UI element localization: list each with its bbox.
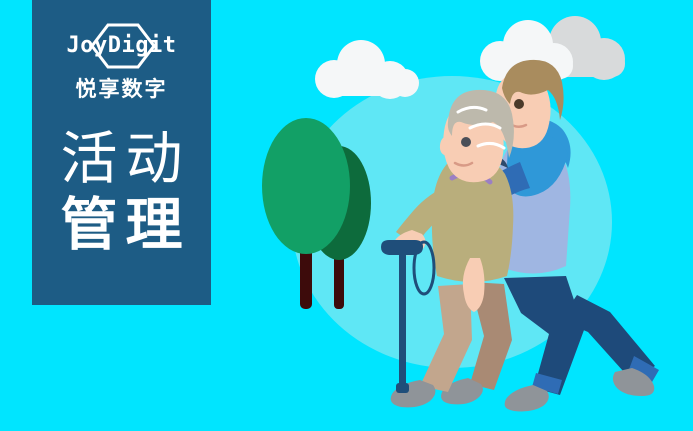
tree-front-foliage — [262, 118, 350, 254]
page-title-line-1: 活动 — [53, 126, 191, 192]
logo-wordmark: JoyDigit — [67, 35, 177, 57]
brand-logo: JoyDigit 悦享数字 — [46, 22, 198, 100]
page-title-line-2: 管理 — [53, 192, 191, 258]
activity-management-banner: JoyDigit 悦享数字 活动 管理 — [0, 0, 693, 431]
cane-tip — [396, 383, 409, 393]
man-eye — [514, 99, 524, 109]
title-panel: JoyDigit 悦享数字 活动 管理 — [32, 0, 211, 305]
cane-shaft — [399, 248, 406, 388]
page-title: 活动 管理 — [53, 126, 191, 258]
logo-mark: JoyDigit — [46, 22, 198, 70]
woman-eye — [461, 137, 471, 147]
company-name-cn: 悦享数字 — [76, 79, 168, 100]
